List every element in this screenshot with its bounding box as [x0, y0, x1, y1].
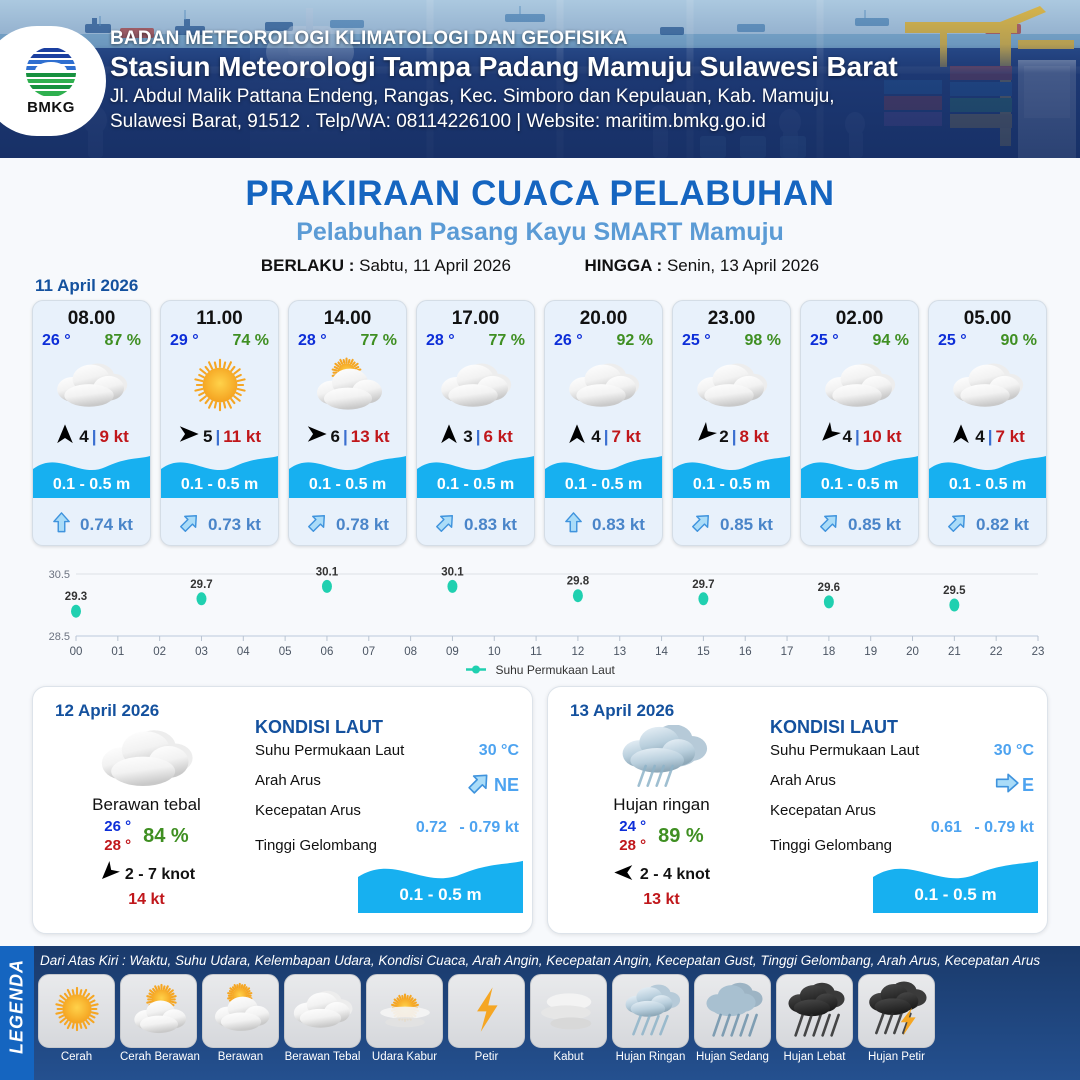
card-time: 02.00: [801, 308, 918, 330]
current-speed-row: Kecepatan Arus 0.61 - 0.79 kt: [770, 802, 1038, 837]
panel-left: Hujan ringan 24 ° 28 ° 89 % 2 - 4 knot 1…: [564, 727, 759, 909]
bmkg-logo-mark: [21, 46, 81, 98]
card-gust: 13 kt: [351, 427, 390, 447]
station-name: Stasiun Meteorologi Tampa Padang Mamuju …: [110, 51, 898, 83]
card-current-speed: 0.85 kt: [848, 515, 901, 535]
legend-item: Petir: [448, 974, 525, 1063]
current-direction-label: Arah Arus: [770, 772, 836, 789]
legend-side-tab: LEGENDA: [0, 946, 34, 1080]
panel-humidity: 89 %: [658, 825, 704, 848]
svg-text:21: 21: [948, 646, 961, 658]
svg-text:28.5: 28.5: [49, 631, 70, 643]
card-humidity: 77 %: [489, 332, 525, 350]
legend-item: Berawan Tebal: [284, 974, 361, 1063]
svg-text:23: 23: [1032, 646, 1045, 658]
panel-wave-height: 0.1 - 0.5 m: [358, 885, 523, 905]
svg-text:30.5: 30.5: [49, 569, 70, 581]
page-title: PRAKIRAAN CUACA PELABUHAN: [0, 174, 1080, 214]
forecast-card[interactable]: 08.00 26 ° 87 % 4 | 9 kt 0.1 - 0.5 m: [32, 300, 151, 546]
card-humidity: 77 %: [361, 332, 397, 350]
current-direction-icon: [50, 511, 73, 539]
card-humidity: 87 %: [105, 332, 141, 350]
card-weather-icon: [801, 352, 918, 418]
wind-separator: |: [988, 427, 993, 447]
panel-weather-icon: [564, 727, 759, 789]
current-direction-icon: [562, 511, 585, 539]
panel-temp-min: 24 °: [619, 818, 646, 837]
sst-chart: 30.528.500010203040506070809101112131415…: [32, 558, 1048, 686]
card-wind-row: 4 | 7 kt: [545, 423, 662, 450]
haze-icon: [374, 979, 436, 1044]
wind-direction-icon: [438, 423, 460, 450]
card-temp-humidity: 25 ° 90 %: [929, 330, 1046, 350]
lightning-icon: [456, 979, 518, 1044]
panel-temp-hum: 24 ° 28 ° 89 %: [564, 818, 759, 856]
svg-text:04: 04: [237, 646, 250, 658]
current-speed-label: Kecepatan Arus: [770, 802, 876, 819]
hourly-forecast-row: 08.00 26 ° 87 % 4 | 9 kt 0.1 - 0.5 m: [32, 300, 1048, 546]
sst-value: 30 °C: [994, 742, 1034, 760]
card-wave-height: 0.1 - 0.5 m: [33, 476, 150, 494]
wind-direction-icon: [306, 423, 328, 450]
card-wind-row: 4 | 9 kt: [33, 423, 150, 450]
card-current-speed: 0.82 kt: [976, 515, 1029, 535]
legend-items: Cerah Cerah Berawan Berawan: [38, 974, 1078, 1063]
svg-text:01: 01: [111, 646, 124, 658]
svg-text:30.1: 30.1: [441, 566, 464, 578]
card-weather-icon: [417, 352, 534, 418]
valid-until-label: HINGGA :: [584, 256, 662, 275]
panel-wave: 0.1 - 0.5 m: [358, 851, 523, 913]
legend-item: Hujan Lebat: [776, 974, 853, 1063]
svg-text:22: 22: [990, 646, 1003, 658]
panel-date: 12 April 2026: [55, 701, 159, 721]
address-line-1: Jl. Abdul Malik Pattana Endeng, Rangas, …: [110, 85, 898, 108]
svg-text:08: 08: [404, 646, 417, 658]
card-temp-humidity: 26 ° 87 %: [33, 330, 150, 350]
card-wind-row: 4 | 7 kt: [929, 423, 1046, 450]
forecast-card[interactable]: 23.00 25 ° 98 % 2 | 8 kt 0.1 - 0.5 m: [672, 300, 791, 546]
current-speed-label: Kecepatan Arus: [255, 802, 361, 819]
panel-temp-hum: 26 ° 28 ° 84 %: [49, 818, 244, 856]
fog-icon: [538, 979, 600, 1044]
valid-from-label: BERLAKU :: [261, 256, 355, 275]
sunny-cloudy-icon: [128, 979, 190, 1044]
card-wave-height: 0.1 - 0.5 m: [289, 476, 406, 494]
forecast-card[interactable]: 11.00 29 ° 74 % 5 | 11 kt 0.1 - 0.5 m 0.…: [160, 300, 279, 546]
card-wave: 0.1 - 0.5 m: [545, 448, 662, 498]
card-weather-icon: [161, 352, 278, 418]
page-header: BMKG BADAN METEOROLOGI KLIMATOLOGI DAN G…: [0, 0, 1080, 158]
card-temp-humidity: 29 ° 74 %: [161, 330, 278, 350]
card-gust: 7 kt: [611, 427, 640, 447]
svg-text:29.8: 29.8: [567, 576, 590, 588]
current-direction-icon: [306, 511, 329, 539]
card-wind-speed: 2: [719, 427, 728, 447]
card-current-speed: 0.85 kt: [720, 515, 773, 535]
current-direction-icon: [818, 511, 841, 539]
bmkg-logo-text: BMKG: [27, 99, 75, 116]
legend-item: Hujan Ringan: [612, 974, 689, 1063]
current-direction-icon: [434, 511, 457, 539]
legend-note: Dari Atas Kiri : Waktu, Suhu Udara, Kele…: [40, 953, 1040, 968]
legend-item-label: Hujan Ringan: [612, 1051, 689, 1063]
card-temp-humidity: 26 ° 92 %: [545, 330, 662, 350]
light-rain-icon: [620, 979, 682, 1044]
panel-wind-direction-icon: [613, 862, 634, 888]
svg-text:12: 12: [572, 646, 585, 658]
card-wind-row: 5 | 11 kt: [161, 423, 278, 450]
legend-item-label: Hujan Petir: [858, 1051, 935, 1063]
bmkg-logo: BMKG: [0, 26, 106, 136]
card-wind-speed: 3: [463, 427, 472, 447]
svg-text:00: 00: [70, 646, 83, 658]
svg-text:10: 10: [488, 646, 501, 658]
legend-icon-box: [448, 974, 525, 1048]
legend-icon-box: [694, 974, 771, 1048]
wind-separator: |: [476, 427, 481, 447]
card-wind-row: 6 | 13 kt: [289, 423, 406, 450]
svg-text:29.6: 29.6: [818, 582, 840, 594]
card-wind-speed: 4: [79, 427, 88, 447]
thunderstorm-icon: [866, 979, 928, 1044]
address-line-2: Sulawesi Barat, 91512 . Telp/WA: 0811422…: [110, 110, 898, 133]
card-wave-height: 0.1 - 0.5 m: [673, 476, 790, 494]
card-temperature: 28 °: [426, 332, 455, 350]
card-humidity: 94 %: [873, 332, 909, 350]
card-current-row: 0.83 kt: [545, 511, 662, 539]
daily-forecast-panel[interactable]: 13 April 2026 Hujan ringan 24 ° 28 ° 89 …: [547, 686, 1048, 934]
card-humidity: 92 %: [617, 332, 653, 350]
sst-row: Suhu Permukaan Laut 30 °C: [770, 742, 1038, 772]
valid-until-value: Senin, 13 April 2026: [667, 256, 819, 275]
card-time: 20.00: [545, 308, 662, 330]
wind-separator: |: [215, 427, 220, 447]
legend-item: Cerah Berawan: [120, 974, 197, 1063]
legend-item: Kabut: [530, 974, 607, 1063]
legend-icon-box: [38, 974, 115, 1048]
card-gust: 10 kt: [863, 427, 902, 447]
svg-text:03: 03: [195, 646, 208, 658]
svg-text:17: 17: [781, 646, 794, 658]
legend-item: Hujan Petir: [858, 974, 935, 1063]
panel-humidity: 84 %: [143, 825, 189, 848]
card-humidity: 90 %: [1001, 332, 1037, 350]
card-temperature: 26 °: [554, 332, 583, 350]
valid-from-value: Sabtu, 11 April 2026: [359, 256, 511, 275]
panel-left: Berawan tebal 26 ° 28 ° 84 % 2 - 7 knot …: [49, 727, 244, 909]
card-humidity: 74 %: [233, 332, 269, 350]
card-temperature: 25 °: [682, 332, 711, 350]
svg-text:29.7: 29.7: [190, 579, 212, 591]
validity-row: BERLAKU : Sabtu, 11 April 2026 HINGGA : …: [0, 256, 1080, 276]
card-current-row: 0.83 kt: [417, 511, 534, 539]
card-gust: 9 kt: [99, 427, 128, 447]
sst-label: Suhu Permukaan Laut: [770, 742, 919, 759]
legend-icon-box: [366, 974, 443, 1048]
wave-height-row: Tinggi Gelombang 0.1 - 0.5 m: [770, 837, 1038, 867]
card-current-speed: 0.74 kt: [80, 515, 133, 535]
svg-text:13: 13: [613, 646, 626, 658]
card-time: 23.00: [673, 308, 790, 330]
card-wave-height: 0.1 - 0.5 m: [929, 476, 1046, 494]
panel-temp-max: 28 °: [619, 837, 646, 856]
svg-text:09: 09: [446, 646, 459, 658]
card-wave: 0.1 - 0.5 m: [673, 448, 790, 498]
legend-item-label: Kabut: [530, 1051, 607, 1063]
panel-weather-icon: [49, 727, 244, 789]
moderate-rain-icon: [702, 979, 764, 1044]
card-wave: 0.1 - 0.5 m: [289, 448, 406, 498]
legend-side-title: LEGENDA: [7, 956, 28, 1058]
forecast-card[interactable]: 17.00 28 ° 77 % 3 | 6 kt 0.1 - 0.5 m: [416, 300, 535, 546]
card-temp-humidity: 25 ° 94 %: [801, 330, 918, 350]
legend-item-label: Berawan Tebal: [284, 1051, 361, 1063]
forecast-card[interactable]: 20.00 26 ° 92 % 4 | 7 kt 0.1 - 0.5 m: [544, 300, 663, 546]
sunny-icon: [46, 979, 108, 1044]
card-current-row: 0.73 kt: [161, 511, 278, 539]
agency-name: BADAN METEOROLOGI KLIMATOLOGI DAN GEOFIS…: [110, 28, 898, 50]
wind-direction-icon: [54, 423, 76, 450]
card-wind-row: 3 | 6 kt: [417, 423, 534, 450]
card-gust: 7 kt: [995, 427, 1024, 447]
wind-direction-icon: [178, 423, 200, 450]
panel-wind-range: 2 - 7 knot: [125, 866, 195, 884]
legend-item-label: Hujan Sedang: [694, 1051, 771, 1063]
card-temperature: 26 °: [42, 332, 71, 350]
sea-conditions-title: KONDISI LAUT: [770, 717, 1038, 738]
legend-item: Hujan Sedang: [694, 974, 771, 1063]
panel-gust: 13 kt: [564, 891, 759, 909]
card-gust: 11 kt: [223, 427, 261, 447]
card-wave: 0.1 - 0.5 m: [417, 448, 534, 498]
panel-temp-min: 26 °: [104, 818, 131, 837]
legend-icon-box: [530, 974, 607, 1048]
wind-direction-icon: [694, 423, 716, 450]
panel-sea-conditions: KONDISI LAUT Suhu Permukaan Laut 30 °C A…: [255, 717, 523, 867]
card-temp-humidity: 25 ° 98 %: [673, 330, 790, 350]
card-gust: 8 kt: [739, 427, 768, 447]
legend-icon-box: [858, 974, 935, 1048]
wind-separator: |: [855, 427, 860, 447]
panel-wind-direction-icon: [98, 862, 119, 888]
svg-text:29.7: 29.7: [692, 579, 714, 591]
legend-item-label: Berawan: [202, 1051, 279, 1063]
card-weather-icon: [673, 352, 790, 418]
current-direction-value-group: NE: [466, 770, 519, 801]
card-weather-icon: [33, 352, 150, 418]
card-temperature: 28 °: [298, 332, 327, 350]
card-temp-humidity: 28 ° 77 %: [417, 330, 534, 350]
card-wave-height: 0.1 - 0.5 m: [801, 476, 918, 494]
svg-text:15: 15: [697, 646, 710, 658]
panel-wave-height: 0.1 - 0.5 m: [873, 885, 1038, 905]
svg-text:20: 20: [906, 646, 919, 658]
wave-height-row: Tinggi Gelombang 0.1 - 0.5 m: [255, 837, 523, 867]
current-direction-icon: [178, 511, 201, 539]
panel-current-direction-icon: [994, 770, 1020, 801]
card-current-row: 0.74 kt: [33, 511, 150, 539]
wind-direction-icon: [566, 423, 588, 450]
svg-text:11: 11: [530, 646, 542, 658]
title-section: PRAKIRAAN CUACA PELABUHAN Pelabuhan Pasa…: [0, 158, 1080, 276]
cloudy-icon: [292, 979, 354, 1044]
current-direction-value: NE: [494, 775, 519, 796]
svg-text:07: 07: [362, 646, 375, 658]
legend-item-label: Udara Kabur: [366, 1051, 443, 1063]
card-time: 14.00: [289, 308, 406, 330]
card-wave: 0.1 - 0.5 m: [801, 448, 918, 498]
card-temp-humidity: 28 ° 77 %: [289, 330, 406, 350]
card-time: 05.00: [929, 308, 1046, 330]
current-speed-min: 0.61: [931, 819, 962, 836]
svg-text:18: 18: [822, 646, 835, 658]
page-subtitle: Pelabuhan Pasang Kayu SMART Mamuju: [0, 218, 1080, 247]
current-speed-min: 0.72: [416, 819, 447, 836]
panel-condition: Berawan tebal: [49, 795, 244, 815]
legend-item: Udara Kabur: [366, 974, 443, 1063]
card-wind-row: 2 | 8 kt: [673, 423, 790, 450]
svg-text:29.5: 29.5: [943, 585, 966, 597]
card-time: 17.00: [417, 308, 534, 330]
legend-icon-box: [202, 974, 279, 1048]
card-weather-icon: [289, 352, 406, 418]
forecast-date-label: 11 April 2026: [35, 276, 138, 296]
svg-text:02: 02: [153, 646, 166, 658]
legend-bar: LEGENDA Dari Atas Kiri : Waktu, Suhu Uda…: [0, 946, 1080, 1080]
legend-item-label: Cerah: [38, 1051, 115, 1063]
card-current-row: 0.85 kt: [801, 511, 918, 539]
card-wave-height: 0.1 - 0.5 m: [545, 476, 662, 494]
card-time: 08.00: [33, 308, 150, 330]
card-wind-row: 4 | 10 kt: [801, 423, 918, 450]
card-current-row: 0.85 kt: [673, 511, 790, 539]
card-wind-speed: 6: [331, 427, 340, 447]
card-time: 11.00: [161, 308, 278, 330]
card-gust: 6 kt: [483, 427, 512, 447]
panel-wind-row: 2 - 7 knot: [49, 862, 244, 888]
legend-item: Cerah: [38, 974, 115, 1063]
card-current-speed: 0.83 kt: [592, 515, 645, 535]
card-current-row: 0.78 kt: [289, 511, 406, 539]
card-wind-speed: 5: [203, 427, 212, 447]
svg-text:16: 16: [739, 646, 752, 658]
legend-icon-box: [284, 974, 361, 1048]
current-speed-values: 0.61 - 0.79 kt: [770, 819, 1038, 837]
daily-forecast-panel[interactable]: 12 April 2026 Berawan tebal 26 ° 28 ° 84…: [32, 686, 533, 934]
header-text-block: BADAN METEOROLOGI KLIMATOLOGI DAN GEOFIS…: [110, 28, 898, 133]
card-temperature: 25 °: [938, 332, 967, 350]
current-speed-values: 0.72 - 0.79 kt: [255, 819, 523, 837]
svg-text:06: 06: [321, 646, 334, 658]
card-wind-speed: 4: [591, 427, 600, 447]
svg-text:30.1: 30.1: [316, 566, 339, 578]
chart-legend: Suhu Permukaan Laut: [32, 663, 1048, 678]
svg-text:29.3: 29.3: [65, 591, 87, 603]
current-direction-value-group: E: [994, 770, 1034, 801]
svg-text:05: 05: [279, 646, 292, 658]
wind-separator: |: [343, 427, 348, 447]
chart-legend-label: Suhu Permukaan Laut: [495, 663, 614, 677]
card-current-row: 0.82 kt: [929, 511, 1046, 539]
wind-separator: |: [732, 427, 737, 447]
current-speed-max: - 0.79 kt: [974, 819, 1034, 836]
svg-text:14: 14: [655, 646, 668, 658]
card-weather-icon: [929, 352, 1046, 418]
sst-value: 30 °C: [479, 742, 519, 760]
forecast-card[interactable]: 02.00 25 ° 94 % 4 | 10 kt 0.1 - 0.5 m: [800, 300, 919, 546]
panel-temp-max: 28 °: [104, 837, 131, 856]
daily-forecast-row: 12 April 2026 Berawan tebal 26 ° 28 ° 84…: [32, 686, 1048, 934]
current-speed-row: Kecepatan Arus 0.72 - 0.79 kt: [255, 802, 523, 837]
card-current-speed: 0.78 kt: [336, 515, 389, 535]
legend-item-label: Hujan Lebat: [776, 1051, 853, 1063]
legend-item: Berawan: [202, 974, 279, 1063]
card-wave-height: 0.1 - 0.5 m: [161, 476, 278, 494]
heavy-rain-icon: [784, 979, 846, 1044]
panel-current-direction-icon: [466, 770, 492, 801]
sst-label: Suhu Permukaan Laut: [255, 742, 404, 759]
card-wave: 0.1 - 0.5 m: [929, 448, 1046, 498]
legend-item-label: Cerah Berawan: [120, 1051, 197, 1063]
panel-wind-row: 2 - 4 knot: [564, 862, 759, 888]
card-wave: 0.1 - 0.5 m: [33, 448, 150, 498]
card-humidity: 98 %: [745, 332, 781, 350]
current-direction-icon: [946, 511, 969, 539]
partly-cloudy-icon: [210, 979, 272, 1044]
current-direction-row: Arah Arus NE: [255, 772, 523, 802]
legend-icon-box: [120, 974, 197, 1048]
panel-date: 13 April 2026: [570, 701, 674, 721]
card-wave: 0.1 - 0.5 m: [161, 448, 278, 498]
svg-text:19: 19: [864, 646, 877, 658]
forecast-card[interactable]: 05.00 25 ° 90 % 4 | 7 kt 0.1 - 0.5 m: [928, 300, 1047, 546]
current-direction-label: Arah Arus: [255, 772, 321, 789]
panel-gust: 14 kt: [49, 891, 244, 909]
sea-conditions-title: KONDISI LAUT: [255, 717, 523, 738]
forecast-card[interactable]: 14.00 28 ° 77 % 6 | 13 kt 0.1 - 0.5 m 0.…: [288, 300, 407, 546]
card-wave-height: 0.1 - 0.5 m: [417, 476, 534, 494]
current-direction-row: Arah Arus E: [770, 772, 1038, 802]
current-speed-max: - 0.79 kt: [459, 819, 519, 836]
legend-icon-box: [776, 974, 853, 1048]
card-weather-icon: [545, 352, 662, 418]
legend-item-label: Petir: [448, 1051, 525, 1063]
panel-condition: Hujan ringan: [564, 795, 759, 815]
card-temperature: 25 °: [810, 332, 839, 350]
card-wind-speed: 4: [975, 427, 984, 447]
current-direction-icon: [690, 511, 713, 539]
wind-direction-icon: [950, 423, 972, 450]
legend-icon-box: [612, 974, 689, 1048]
panel-sea-conditions: KONDISI LAUT Suhu Permukaan Laut 30 °C A…: [770, 717, 1038, 867]
card-current-speed: 0.73 kt: [208, 515, 261, 535]
panel-wind-range: 2 - 4 knot: [640, 866, 710, 884]
card-current-speed: 0.83 kt: [464, 515, 517, 535]
wind-separator: |: [604, 427, 609, 447]
panel-wave: 0.1 - 0.5 m: [873, 851, 1038, 913]
card-temperature: 29 °: [170, 332, 199, 350]
chart-legend-marker: [465, 664, 487, 678]
card-wind-speed: 4: [843, 427, 852, 447]
wind-direction-icon: [818, 423, 840, 450]
current-direction-value: E: [1022, 775, 1034, 796]
wind-separator: |: [92, 427, 97, 447]
